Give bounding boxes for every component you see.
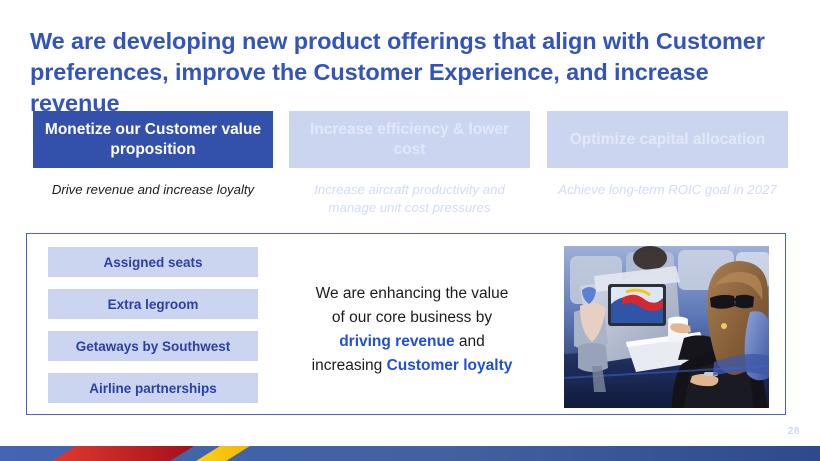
center-message-line1: We are enhancing the value — [316, 285, 509, 302]
initiative-airline-partnerships[interactable]: Airline partnerships — [48, 373, 258, 403]
content-panel: Assigned seats Extra legroom Getaways by… — [26, 233, 786, 415]
pillar-subtitle-efficiency: Increase aircraft productivity and manag… — [289, 181, 530, 217]
pillar-box-monetize[interactable]: Monetize our Customer value proposition — [33, 111, 273, 168]
center-message-line3-tail: and — [455, 333, 485, 350]
strategy-pillars: Monetize our Customer value proposition … — [0, 111, 820, 226]
cabin-photo — [564, 246, 769, 408]
pillar-subtitle-capital: Achieve long-term ROIC goal in 2027 — [547, 181, 788, 199]
center-message-line2: of our core business by — [332, 309, 492, 326]
initiative-assigned-seats[interactable]: Assigned seats — [48, 247, 258, 277]
center-message-line4-lead: increasing — [312, 357, 387, 374]
center-message: We are enhancing the value of our core b… — [277, 282, 547, 378]
pillar-subtitle-monetize: Drive revenue and increase loyalty — [33, 181, 273, 199]
initiative-list: Assigned seats Extra legroom Getaways by… — [48, 247, 258, 403]
initiative-extra-legroom[interactable]: Extra legroom — [48, 289, 258, 319]
initiative-getaways-by-southwest[interactable]: Getaways by Southwest — [48, 331, 258, 361]
pillar-box-efficiency[interactable]: Increase efficiency & lower cost — [289, 111, 530, 168]
center-message-highlight-revenue: driving revenue — [339, 333, 454, 350]
brand-footer-stripe — [0, 444, 820, 461]
page-number: 28 — [788, 426, 800, 437]
page-title: We are developing new product offerings … — [30, 26, 798, 119]
pillar-box-capital[interactable]: Optimize capital allocation — [547, 111, 788, 168]
center-message-highlight-loyalty: Customer loyalty — [387, 357, 513, 374]
